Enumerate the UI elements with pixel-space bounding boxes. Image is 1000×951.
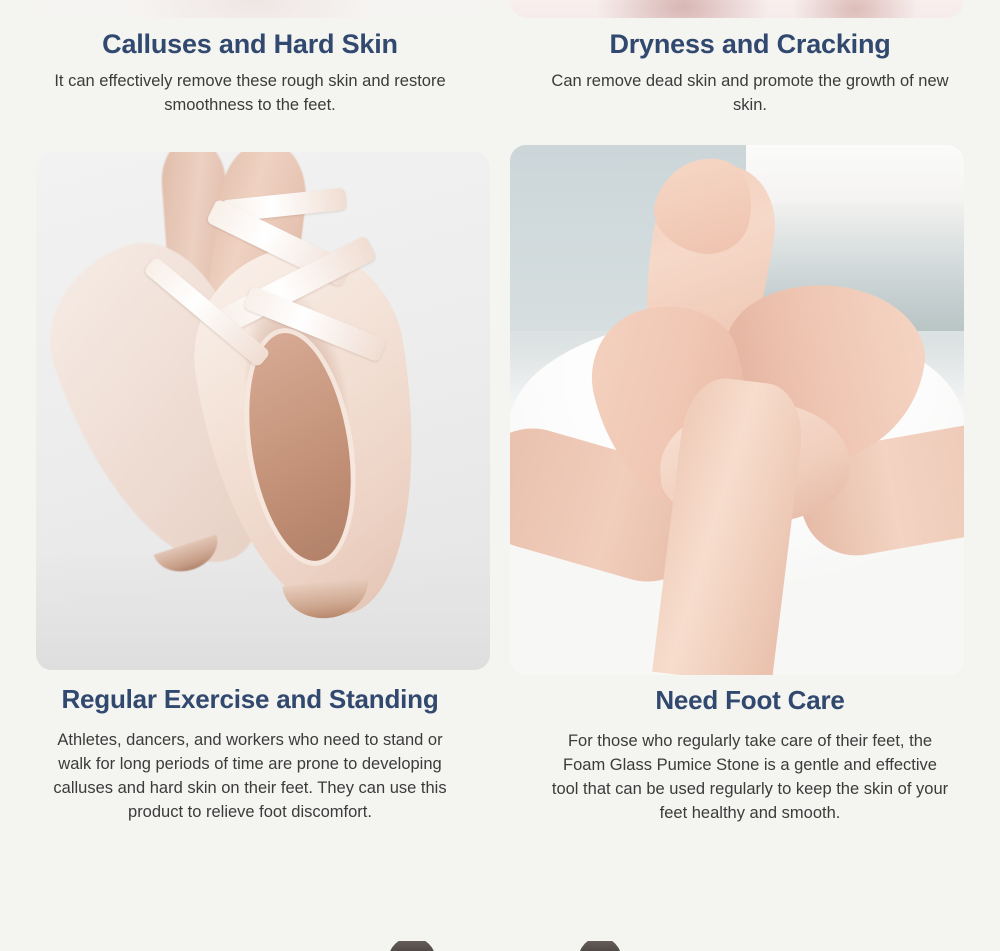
bottom-left-body: Athletes, dancers, and workers who need … [48,729,452,825]
floor-shadow [36,550,490,670]
left-column: Calluses and Hard Skin It can effectivel… [0,0,500,951]
foot-massage-image-card [510,145,964,675]
bottom-right-body: For those who regularly take care of the… [551,730,949,826]
bottom-left-cropped-image [388,941,436,951]
bottom-right-title: Need Foot Care [500,685,1000,716]
top-right-title: Dryness and Cracking [500,28,1000,60]
right-column: Dryness and Cracking Can remove dead ski… [500,0,1000,951]
pumice-stone-shape [578,941,622,951]
top-left-subtitle: It can effectively remove these rough sk… [50,70,450,117]
bottom-left-text-block: Regular Exercise and Standing Athletes, … [0,684,500,825]
foot-massage-illustration [510,145,964,675]
bottom-right-cropped-image [578,941,622,951]
top-left-text-block: Calluses and Hard Skin It can effectivel… [0,28,500,117]
top-left-title: Calluses and Hard Skin [0,28,500,60]
content-grid: Calluses and Hard Skin It can effectivel… [0,0,1000,951]
top-right-text-block: Dryness and Cracking Can remove dead ski… [500,28,1000,117]
ballet-shoes-image-card [36,152,490,670]
top-right-subtitle: Can remove dead skin and promote the gro… [550,70,950,117]
bottom-left-title: Regular Exercise and Standing [0,684,500,715]
pumice-stone-shape [388,941,436,951]
ballet-pointe-shoes-illustration [36,152,490,670]
product-infographic-page: Calluses and Hard Skin It can effectivel… [0,0,1000,951]
wall-right [746,145,964,203]
bottom-right-text-block: Need Foot Care For those who regularly t… [500,685,1000,826]
